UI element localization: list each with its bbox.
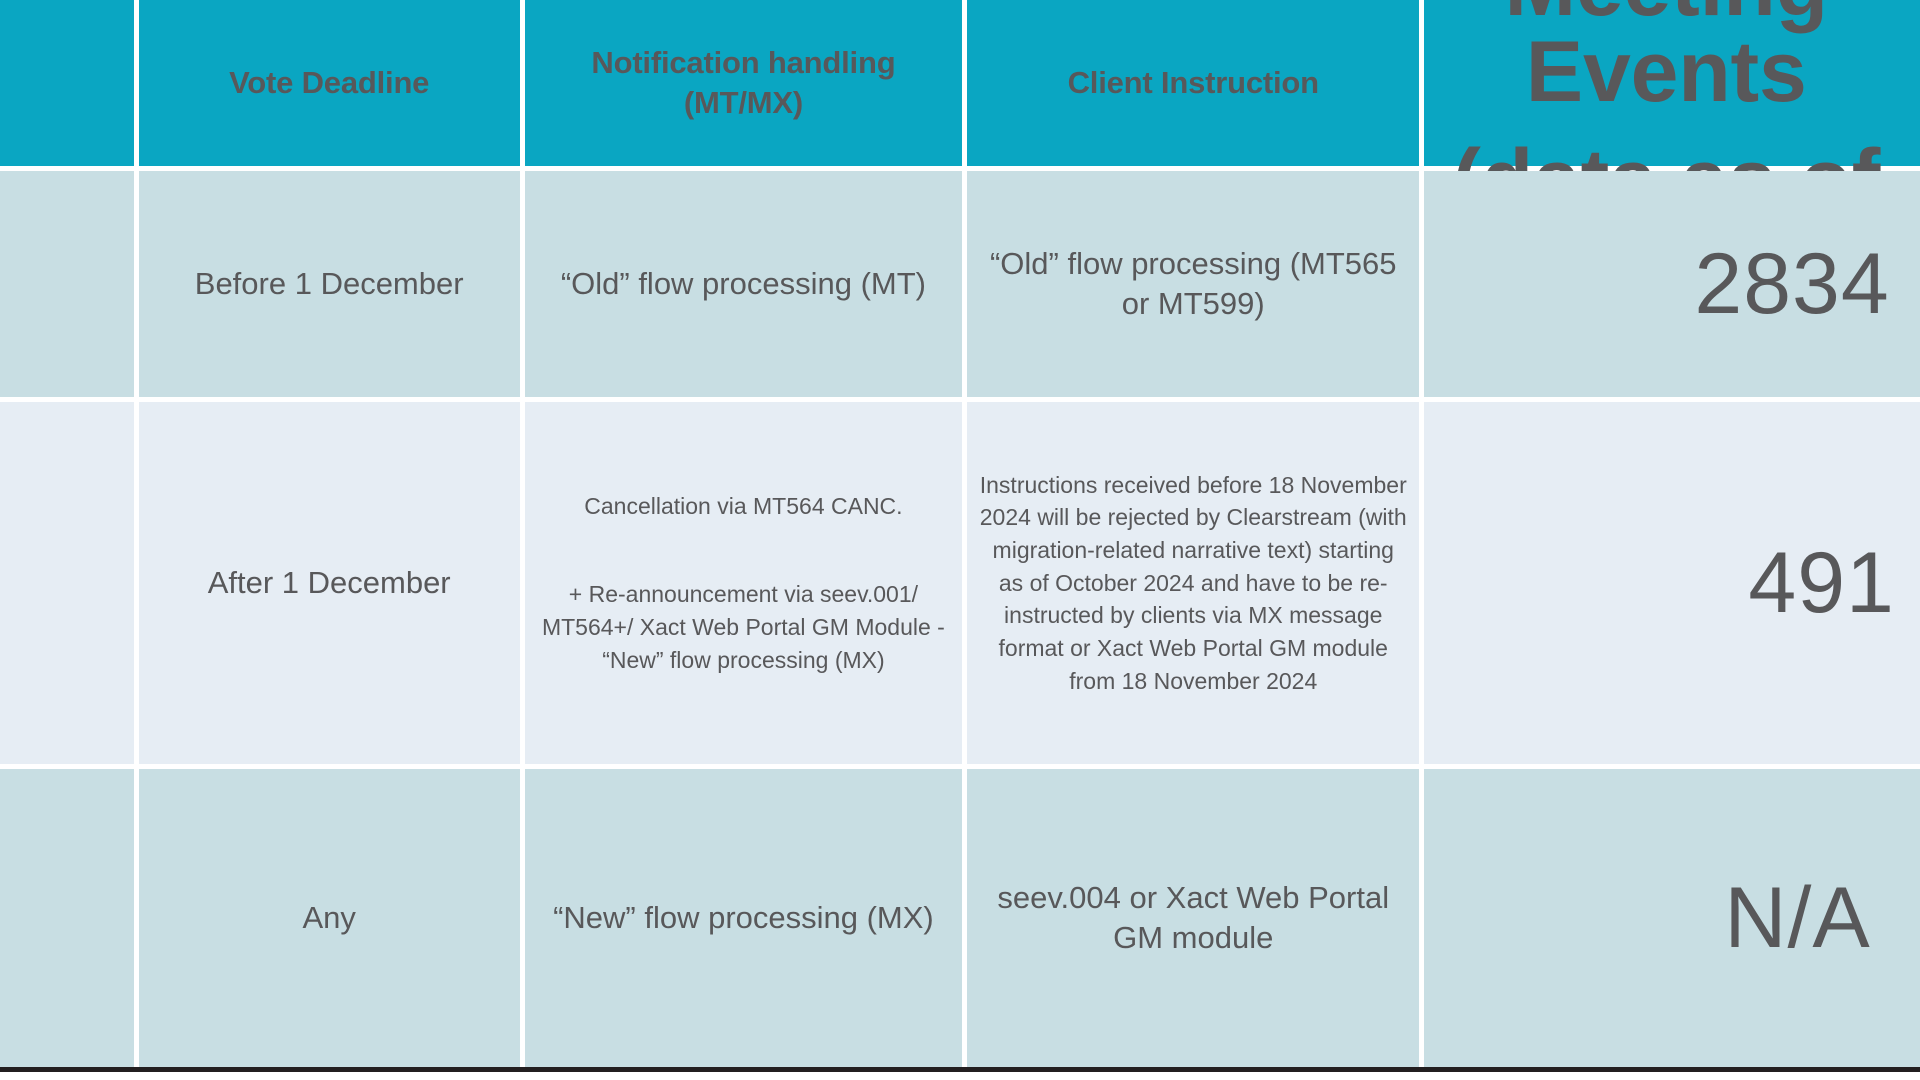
header-label-client-instruction: Client Instruction — [979, 63, 1407, 103]
cell-vote-deadline: After 1 December — [139, 402, 520, 764]
cell-impacted-meeting-events: N/A — [1424, 769, 1920, 1067]
table-header-row: Vote Deadline Notification handling (MT/… — [0, 0, 1920, 166]
cell-impacted-meeting-events-value: 491 — [1748, 540, 1895, 626]
header-cell-impacted-meeting-events: Impacted Meeting Events (data as of 07/1… — [1424, 0, 1920, 166]
cell-vote-deadline: Before 1 December — [139, 171, 520, 397]
table-row: lov Any “New” flow processing (MX) seev.… — [0, 769, 1920, 1067]
cell-impacted-meeting-events: 2834 — [1424, 171, 1920, 397]
cell-impacted-meeting-events: 491 — [1424, 402, 1920, 764]
table-row: v After 1 December Cancellation via MT56… — [0, 402, 1920, 764]
cell-client-instruction: “Old” flow processing (MT565 or MT599) — [967, 171, 1419, 397]
cell-vote-deadline-text: After 1 December — [208, 563, 451, 603]
cell-clipped: lov — [0, 769, 134, 1067]
cell-vote-deadline-text: Before 1 December — [195, 264, 464, 304]
cell-vote-deadline: Any — [139, 769, 520, 1067]
meeting-events-table: Vote Deadline Notification handling (MT/… — [0, 0, 1920, 1080]
cell-impacted-meeting-events-value: N/A — [1724, 875, 1870, 961]
cell-client-instruction-text: “Old” flow processing (MT565 or MT599) — [979, 244, 1407, 325]
header-label-notification-handling-sub: (MT/MX) — [537, 83, 950, 123]
cell-notification-handling-text: “New” flow processing (MX) — [553, 898, 934, 938]
header-label-notification-handling: Notification handling — [537, 43, 950, 83]
cell-client-instruction: seev.004 or Xact Web Portal GM module — [967, 769, 1419, 1067]
table-row: v Before 1 December “Old” flow processin… — [0, 171, 1920, 397]
header-cell-notification-handling: Notification handling (MT/MX) — [525, 0, 962, 166]
cell-notification-handling-text-secondary: + Re-announcement via seev.001/ MT564+/ … — [537, 578, 950, 676]
table-bottom-rule — [0, 1067, 1920, 1072]
cell-notification-handling-text: Cancellation via MT564 CANC. — [537, 490, 950, 523]
cell-impacted-meeting-events-value: 2834 — [1694, 241, 1889, 327]
header-label-impacted-meeting-events: Impacted Meeting Events — [1424, 0, 1908, 115]
header-cell-client-instruction: Client Instruction — [967, 0, 1419, 166]
cell-clipped: v — [0, 402, 134, 764]
cell-notification-handling: “New” flow processing (MX) — [525, 769, 962, 1067]
cell-clipped: v — [0, 171, 134, 397]
cell-client-instruction-text: seev.004 or Xact Web Portal GM module — [979, 878, 1407, 959]
cell-notification-handling-text: “Old” flow processing (MT) — [561, 264, 926, 304]
cell-client-instruction-text: Instructions received before 18 November… — [979, 469, 1407, 698]
cell-client-instruction: Instructions received before 18 November… — [967, 402, 1419, 764]
header-cell-clipped — [0, 0, 134, 166]
cell-notification-handling: “Old” flow processing (MT) — [525, 171, 962, 397]
cell-notification-handling: Cancellation via MT564 CANC. + Re-announ… — [525, 402, 962, 764]
header-label-vote-deadline: Vote Deadline — [151, 63, 508, 103]
cell-vote-deadline-text: Any — [302, 898, 355, 938]
header-cell-vote-deadline: Vote Deadline — [139, 0, 520, 166]
